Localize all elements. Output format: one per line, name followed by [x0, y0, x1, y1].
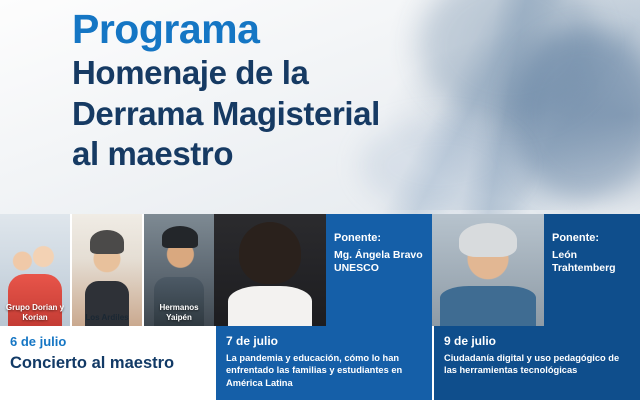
artist-photo-group: Grupo Dorian y Korian Los Ardiles Herman…: [0, 214, 214, 326]
event-2-date: 7 de julio: [226, 334, 422, 348]
event-3-media: Ponente: León Trahtemberg: [432, 214, 640, 326]
artist-caption-2: Los Ardiles: [72, 313, 142, 322]
headline-line-1: Homenaje de la: [72, 53, 542, 93]
photo-angela-bravo: [214, 214, 326, 326]
event-card-pandemia[interactable]: Ponente: Mg. Ángela Bravo UNESCO 7 de ju…: [214, 214, 432, 400]
event-2-speaker-name: Mg. Ángela Bravo: [334, 249, 426, 263]
headline-line-3: al maestro: [72, 134, 542, 174]
artist-photo-3: Hermanos Yaipén: [144, 214, 214, 326]
page-title-program: Programa: [72, 8, 542, 51]
events-band: Grupo Dorian y Korian Los Ardiles Herman…: [0, 214, 640, 400]
headline-block: Programa Homenaje de la Derrama Magister…: [72, 8, 542, 174]
event-3-speaker-block: Ponente: León Trahtemberg: [552, 232, 634, 276]
event-3-text: 9 de julio Ciudadanía digital y uso peda…: [432, 326, 640, 400]
event-2-media: Ponente: Mg. Ángela Bravo UNESCO: [214, 214, 432, 326]
event-card-ciudadania[interactable]: Ponente: León Trahtemberg 9 de julio Ciu…: [432, 214, 640, 400]
artist-photo-2: Los Ardiles: [72, 214, 144, 326]
artist-caption-3: Hermanos Yaipén: [144, 303, 214, 322]
photo-leon-trahtemberg: [432, 214, 544, 326]
event-card-concierto[interactable]: Grupo Dorian y Korian Los Ardiles Herman…: [0, 214, 214, 400]
photo-los-ardiles: [72, 214, 142, 326]
event-1-title: Concierto al maestro: [10, 354, 204, 374]
event-1-date: 6 de julio: [10, 334, 204, 349]
event-2-speaker-org: UNESCO: [334, 262, 426, 276]
event-3-speaker-name: León Trahtemberg: [552, 249, 634, 276]
event-3-date: 9 de julio: [444, 334, 630, 348]
event-2-speaker-label: Ponente:: [334, 232, 426, 246]
event-3-description: Ciudadanía digital y uso pedagógico de l…: [444, 352, 630, 377]
event-2-speaker-block: Ponente: Mg. Ángela Bravo UNESCO: [334, 232, 426, 276]
event-1-text: 6 de julio Concierto al maestro: [0, 326, 214, 400]
headline-line-2: Derrama Magisterial: [72, 94, 542, 134]
event-3-speaker-label: Ponente:: [552, 232, 634, 246]
event-2-description: La pandemia y educación, cómo lo han enf…: [226, 352, 422, 389]
artist-caption-1: Grupo Dorian y Korian: [0, 303, 70, 322]
poster-root: Programa Homenaje de la Derrama Magister…: [0, 0, 640, 400]
event-2-text: 7 de julio La pandemia y educación, cómo…: [214, 326, 432, 400]
artist-photo-1: Grupo Dorian y Korian: [0, 214, 72, 326]
event-1-media: Grupo Dorian y Korian Los Ardiles Herman…: [0, 214, 214, 326]
